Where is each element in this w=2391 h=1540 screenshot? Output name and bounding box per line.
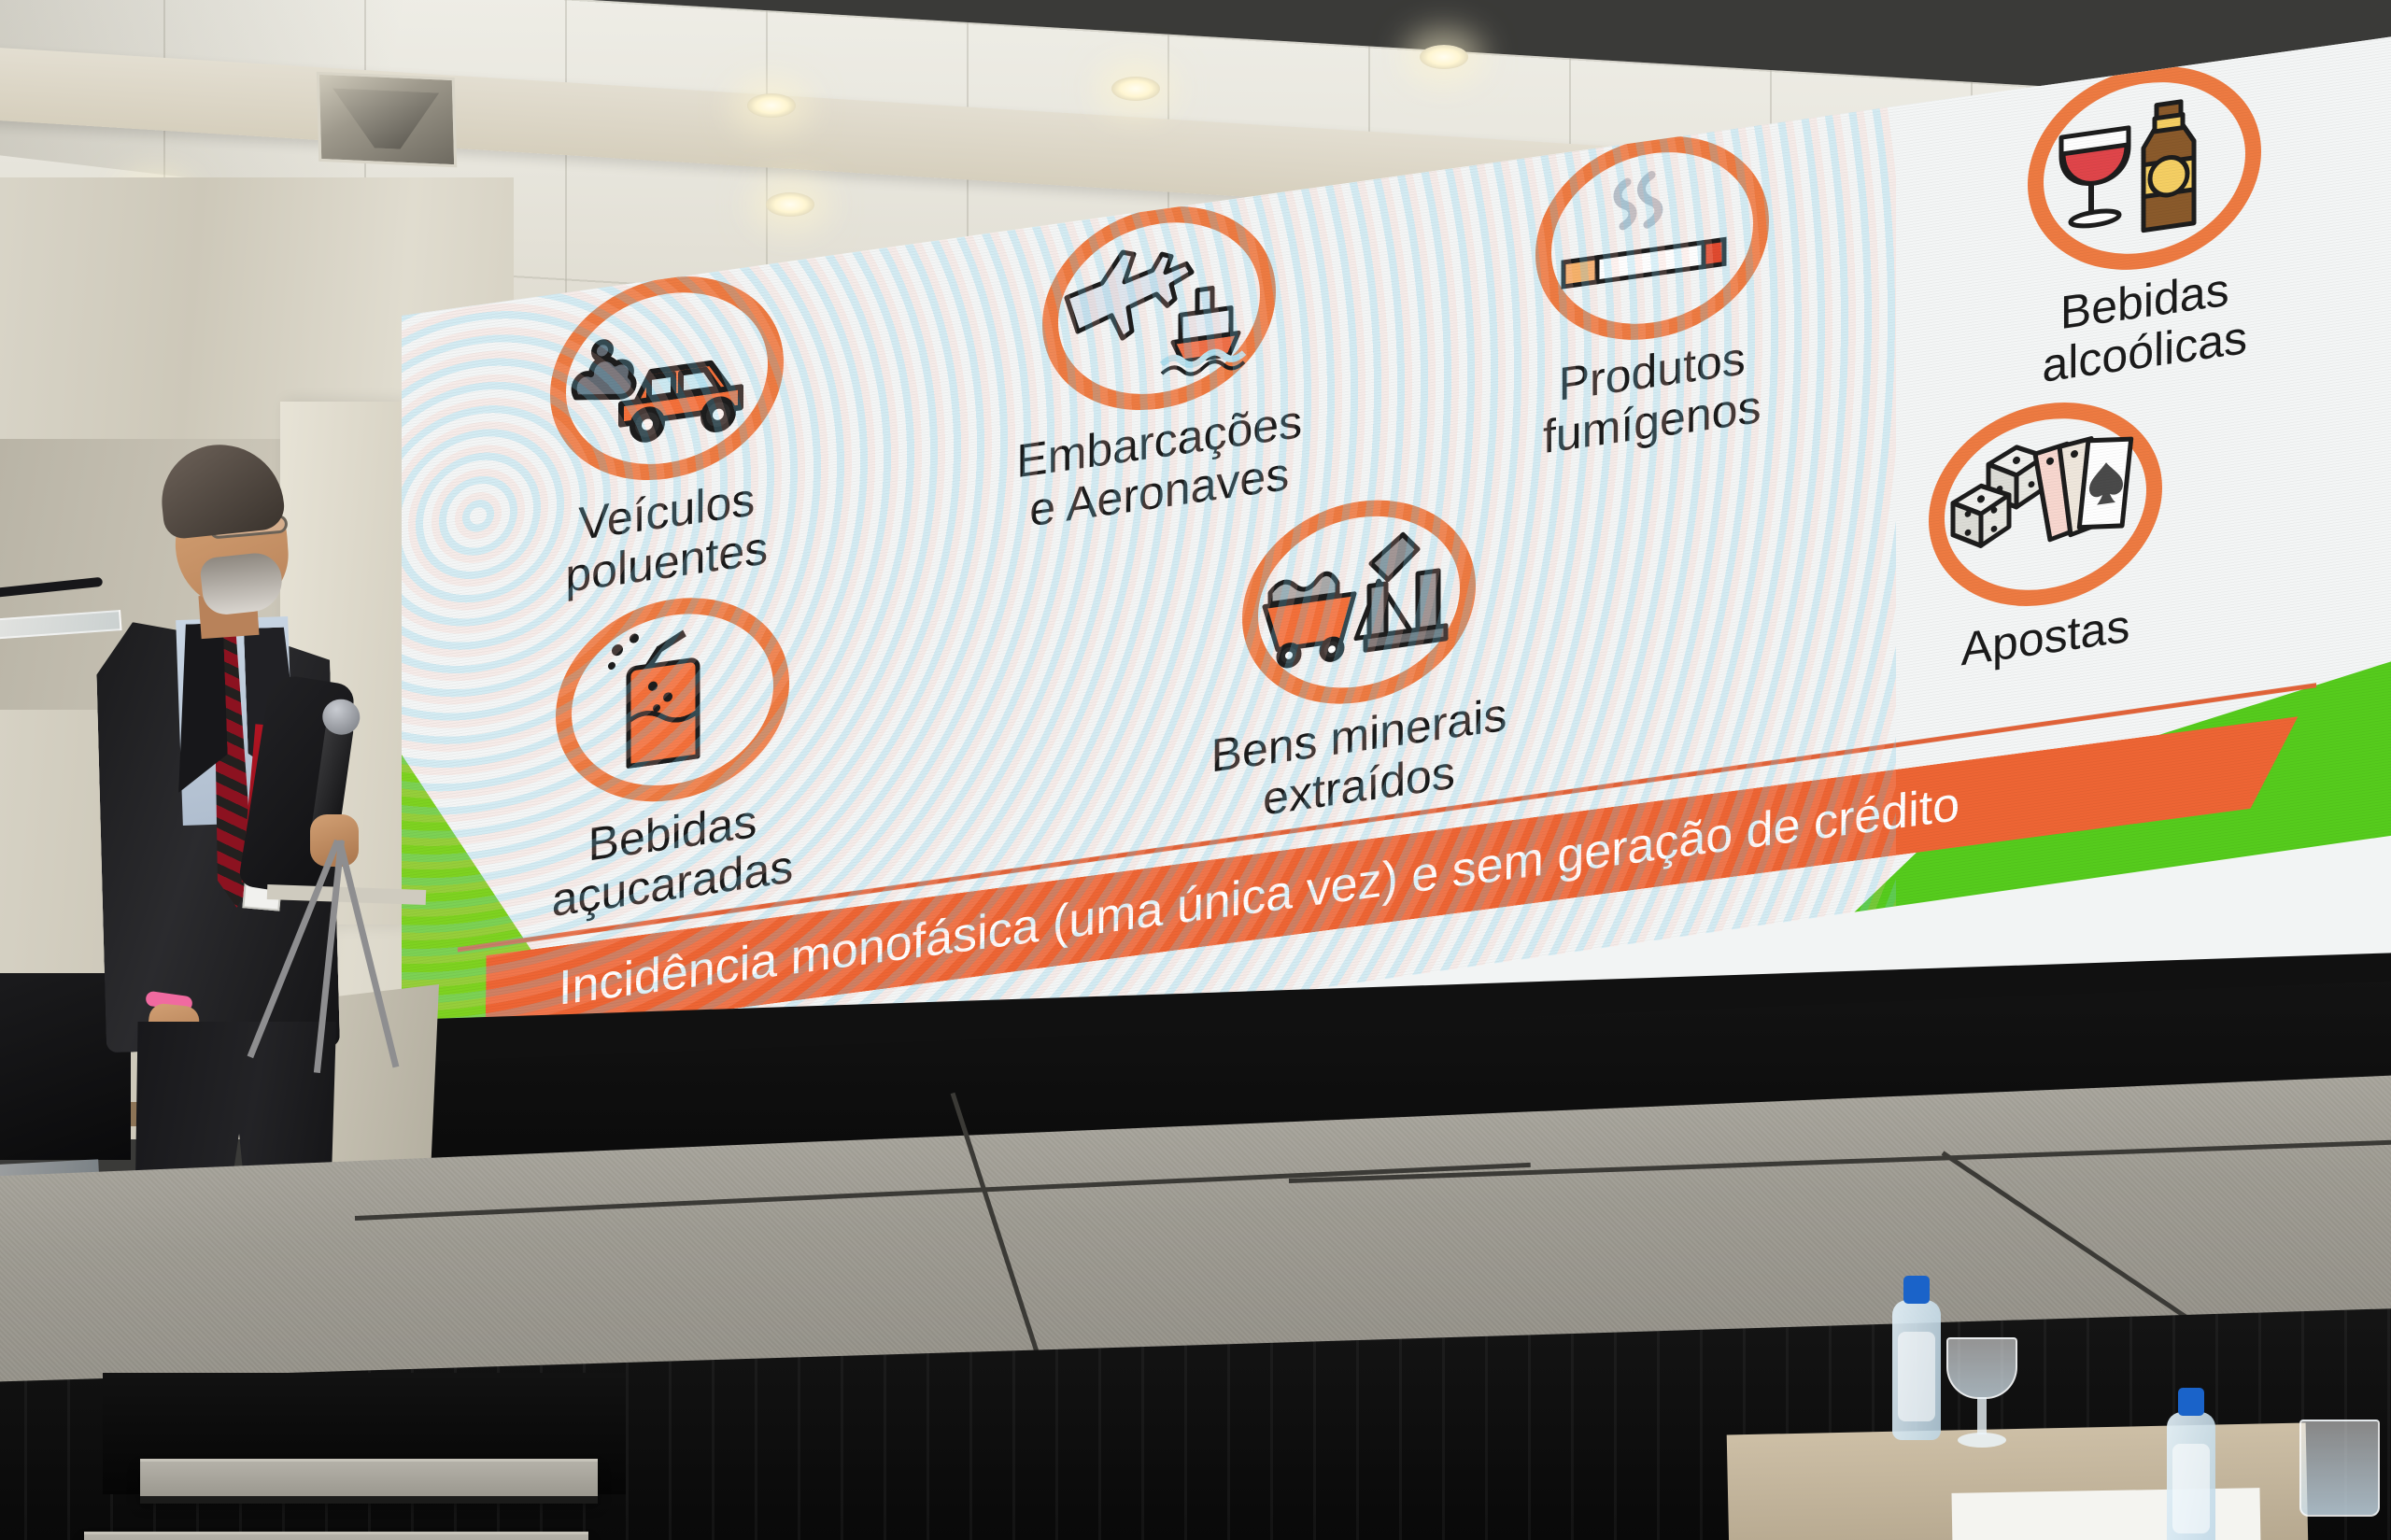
ceiling-downlight-icon — [747, 93, 796, 118]
ceiling-downlight-icon — [1111, 77, 1160, 101]
water-bottle-1 — [1892, 1300, 1941, 1440]
dice-and-playing-cards-icon — [1947, 416, 2143, 593]
polluting-car-icon — [569, 290, 765, 467]
icon-ring — [1929, 388, 2162, 622]
hvac-vent-icon — [317, 72, 457, 168]
goblet-stem — [1977, 1397, 1987, 1434]
slide-icon-item: Apostas — [1849, 376, 2242, 691]
slide-icon-label: Bens minerais extraídos — [1163, 682, 1555, 839]
slide-icon-item: Bebidas alcoólicas — [1948, 40, 2341, 405]
ceiling-downlight-icon — [766, 192, 814, 217]
equipment-tripod — [280, 841, 430, 1121]
scene-root: O “Imposto do Pecado” (Imposto Seletivo … — [0, 0, 2391, 1540]
stage-steps — [103, 1373, 626, 1540]
ceiling-downlight-icon — [1420, 45, 1468, 69]
ship-and-plane-icon — [1061, 219, 1257, 397]
water-bottle-2 — [2167, 1412, 2215, 1540]
cigarette-smoke-icon — [1554, 149, 1750, 327]
icon-ring — [2028, 51, 2261, 286]
slide-icon-item: Veículos poluentes — [471, 250, 863, 615]
wine-glass-and-beer-bottle-icon — [2046, 79, 2242, 257]
stage-step-lower — [84, 1532, 588, 1540]
slide-icon-item: Embarcações e Aeronaves — [963, 180, 1355, 545]
presenter-hair — [156, 438, 286, 540]
icon-ring — [550, 261, 784, 496]
drinking-glass — [2299, 1420, 2380, 1517]
icon-ring — [1042, 191, 1276, 426]
slide-icon-item: Bebidas açucaradas — [476, 572, 869, 937]
presenter-beard — [199, 551, 285, 617]
slide-icon-item: Produtos fumígenos — [1456, 110, 1848, 475]
slide-icon-item: Bens minerais extraídos — [1163, 473, 1555, 839]
mining-cart-and-oil-pump-icon — [1261, 514, 1457, 691]
icon-ring — [1242, 485, 1476, 719]
goblet-bowl — [1946, 1337, 2017, 1399]
wine-goblet — [1946, 1337, 2017, 1451]
icon-ring — [556, 583, 789, 817]
goblet-foot — [1958, 1433, 2006, 1448]
stage-step-upper — [140, 1459, 598, 1496]
icon-ring — [1535, 121, 1769, 356]
soda-can-icon — [574, 611, 771, 788]
